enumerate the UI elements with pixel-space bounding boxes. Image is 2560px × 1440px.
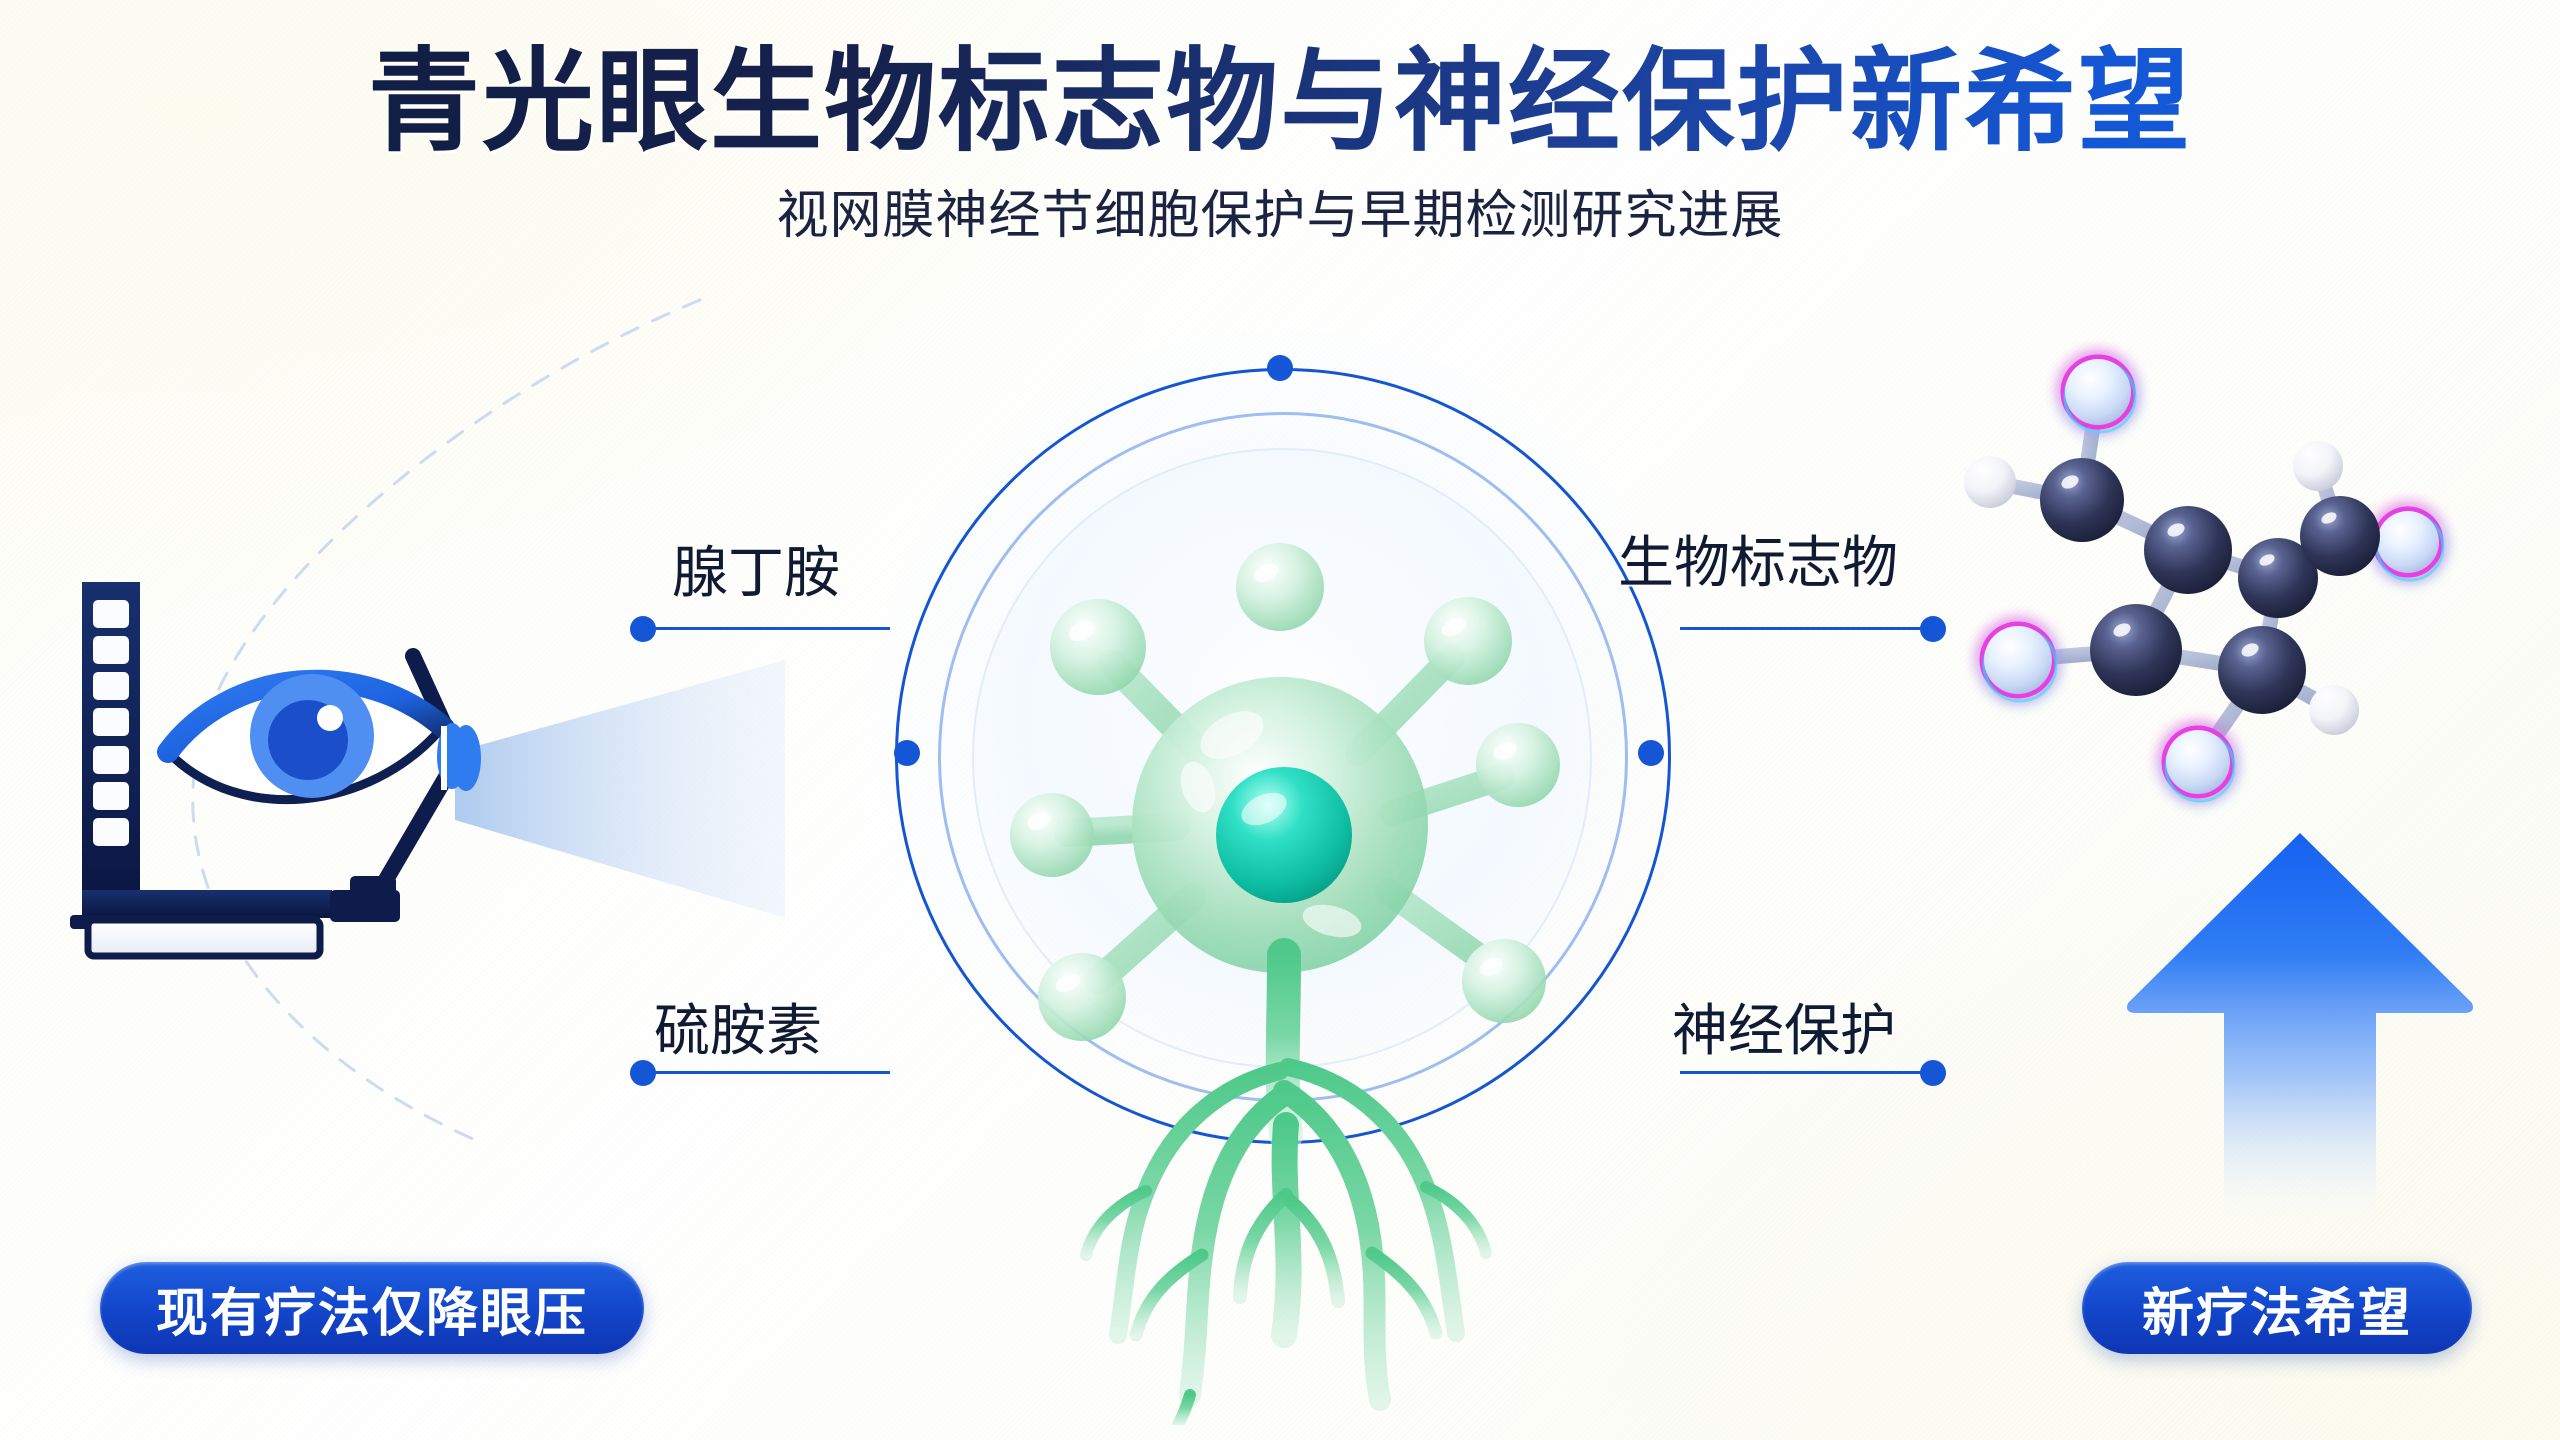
label-biomarker: 生物标志物: [1618, 518, 1898, 599]
device-base: [70, 915, 320, 956]
status-badge-current-therapy[interactable]: 现有疗法仅降眼压: [100, 1262, 644, 1354]
lens-emitter: [437, 723, 481, 791]
connector-line-top-right: [1680, 627, 1930, 630]
infographic-canvas: 青光眼生物标志物与神经保护新希望 视网膜神经节细胞保护与早期检测研究进展: [0, 0, 2560, 1440]
label-neuroprotection: 神经保护: [1672, 986, 1896, 1067]
page-title: 青光眼生物标志物与神经保护新希望: [0, 0, 2560, 163]
orbit-node-left[interactable]: [894, 740, 920, 766]
upward-arrow-icon: [2120, 825, 2480, 1235]
tonometer-eye-exam-icon: [40, 560, 560, 1040]
connector-line-top-left: [650, 627, 890, 630]
status-badge-new-therapy[interactable]: 新疗法希望: [2082, 1262, 2472, 1354]
page-subtitle: 视网膜神经节细胞保护与早期检测研究进展: [0, 173, 2560, 248]
retinal-ganglion-neuron-cell-icon: [940, 435, 1620, 1425]
molecule-ball-and-stick-icon: [1930, 330, 2510, 850]
eye-illustration: [168, 674, 444, 800]
connector-line-bottom-left: [650, 1071, 890, 1074]
orbit-node-top[interactable]: [1267, 355, 1293, 381]
label-thiamine: 硫胺素: [654, 986, 822, 1067]
label-adenosine: 腺丁胺: [672, 528, 840, 609]
header: 青光眼生物标志物与神经保护新希望 视网膜神经节细胞保护与早期检测研究进展: [0, 0, 2560, 248]
center-diagram: [880, 340, 1680, 1440]
orbit-node-right[interactable]: [1638, 740, 1664, 766]
connector-line-bottom-right: [1680, 1071, 1930, 1074]
